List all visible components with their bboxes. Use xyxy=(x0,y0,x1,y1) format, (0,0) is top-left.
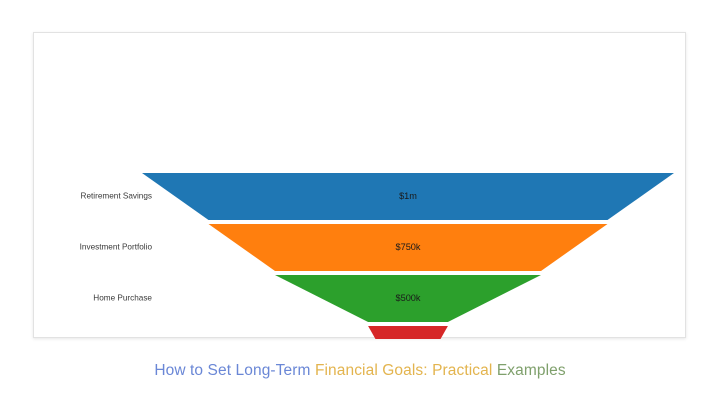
funnel-stage-labels: Retirement SavingsInvestment PortfolioHo… xyxy=(77,192,152,339)
screenshot-root: Retirement SavingsInvestment PortfolioHo… xyxy=(0,0,720,412)
caption-segment-2: Examples xyxy=(497,362,566,379)
funnel-value-label: $1m xyxy=(399,191,417,201)
caption-segment-1: Financial Goals: Practical xyxy=(315,362,497,379)
chart-frame: Retirement SavingsInvestment PortfolioHo… xyxy=(33,32,686,338)
funnel-segment[interactable] xyxy=(368,326,448,339)
funnel-stage-label: Home Purchase xyxy=(93,294,152,303)
funnel-stage-label: Retirement Savings xyxy=(81,192,152,201)
funnel-value-label: $500k xyxy=(395,293,420,303)
funnel-value-label: $750k xyxy=(395,242,420,252)
funnel-stage-label: Investment Portfolio xyxy=(80,243,153,252)
caption-segment-0: How to Set Long-Term xyxy=(154,362,315,379)
funnel-chart: Retirement SavingsInvestment PortfolioHo… xyxy=(34,33,687,339)
chart-caption: How to Set Long-Term Financial Goals: Pr… xyxy=(0,362,720,380)
